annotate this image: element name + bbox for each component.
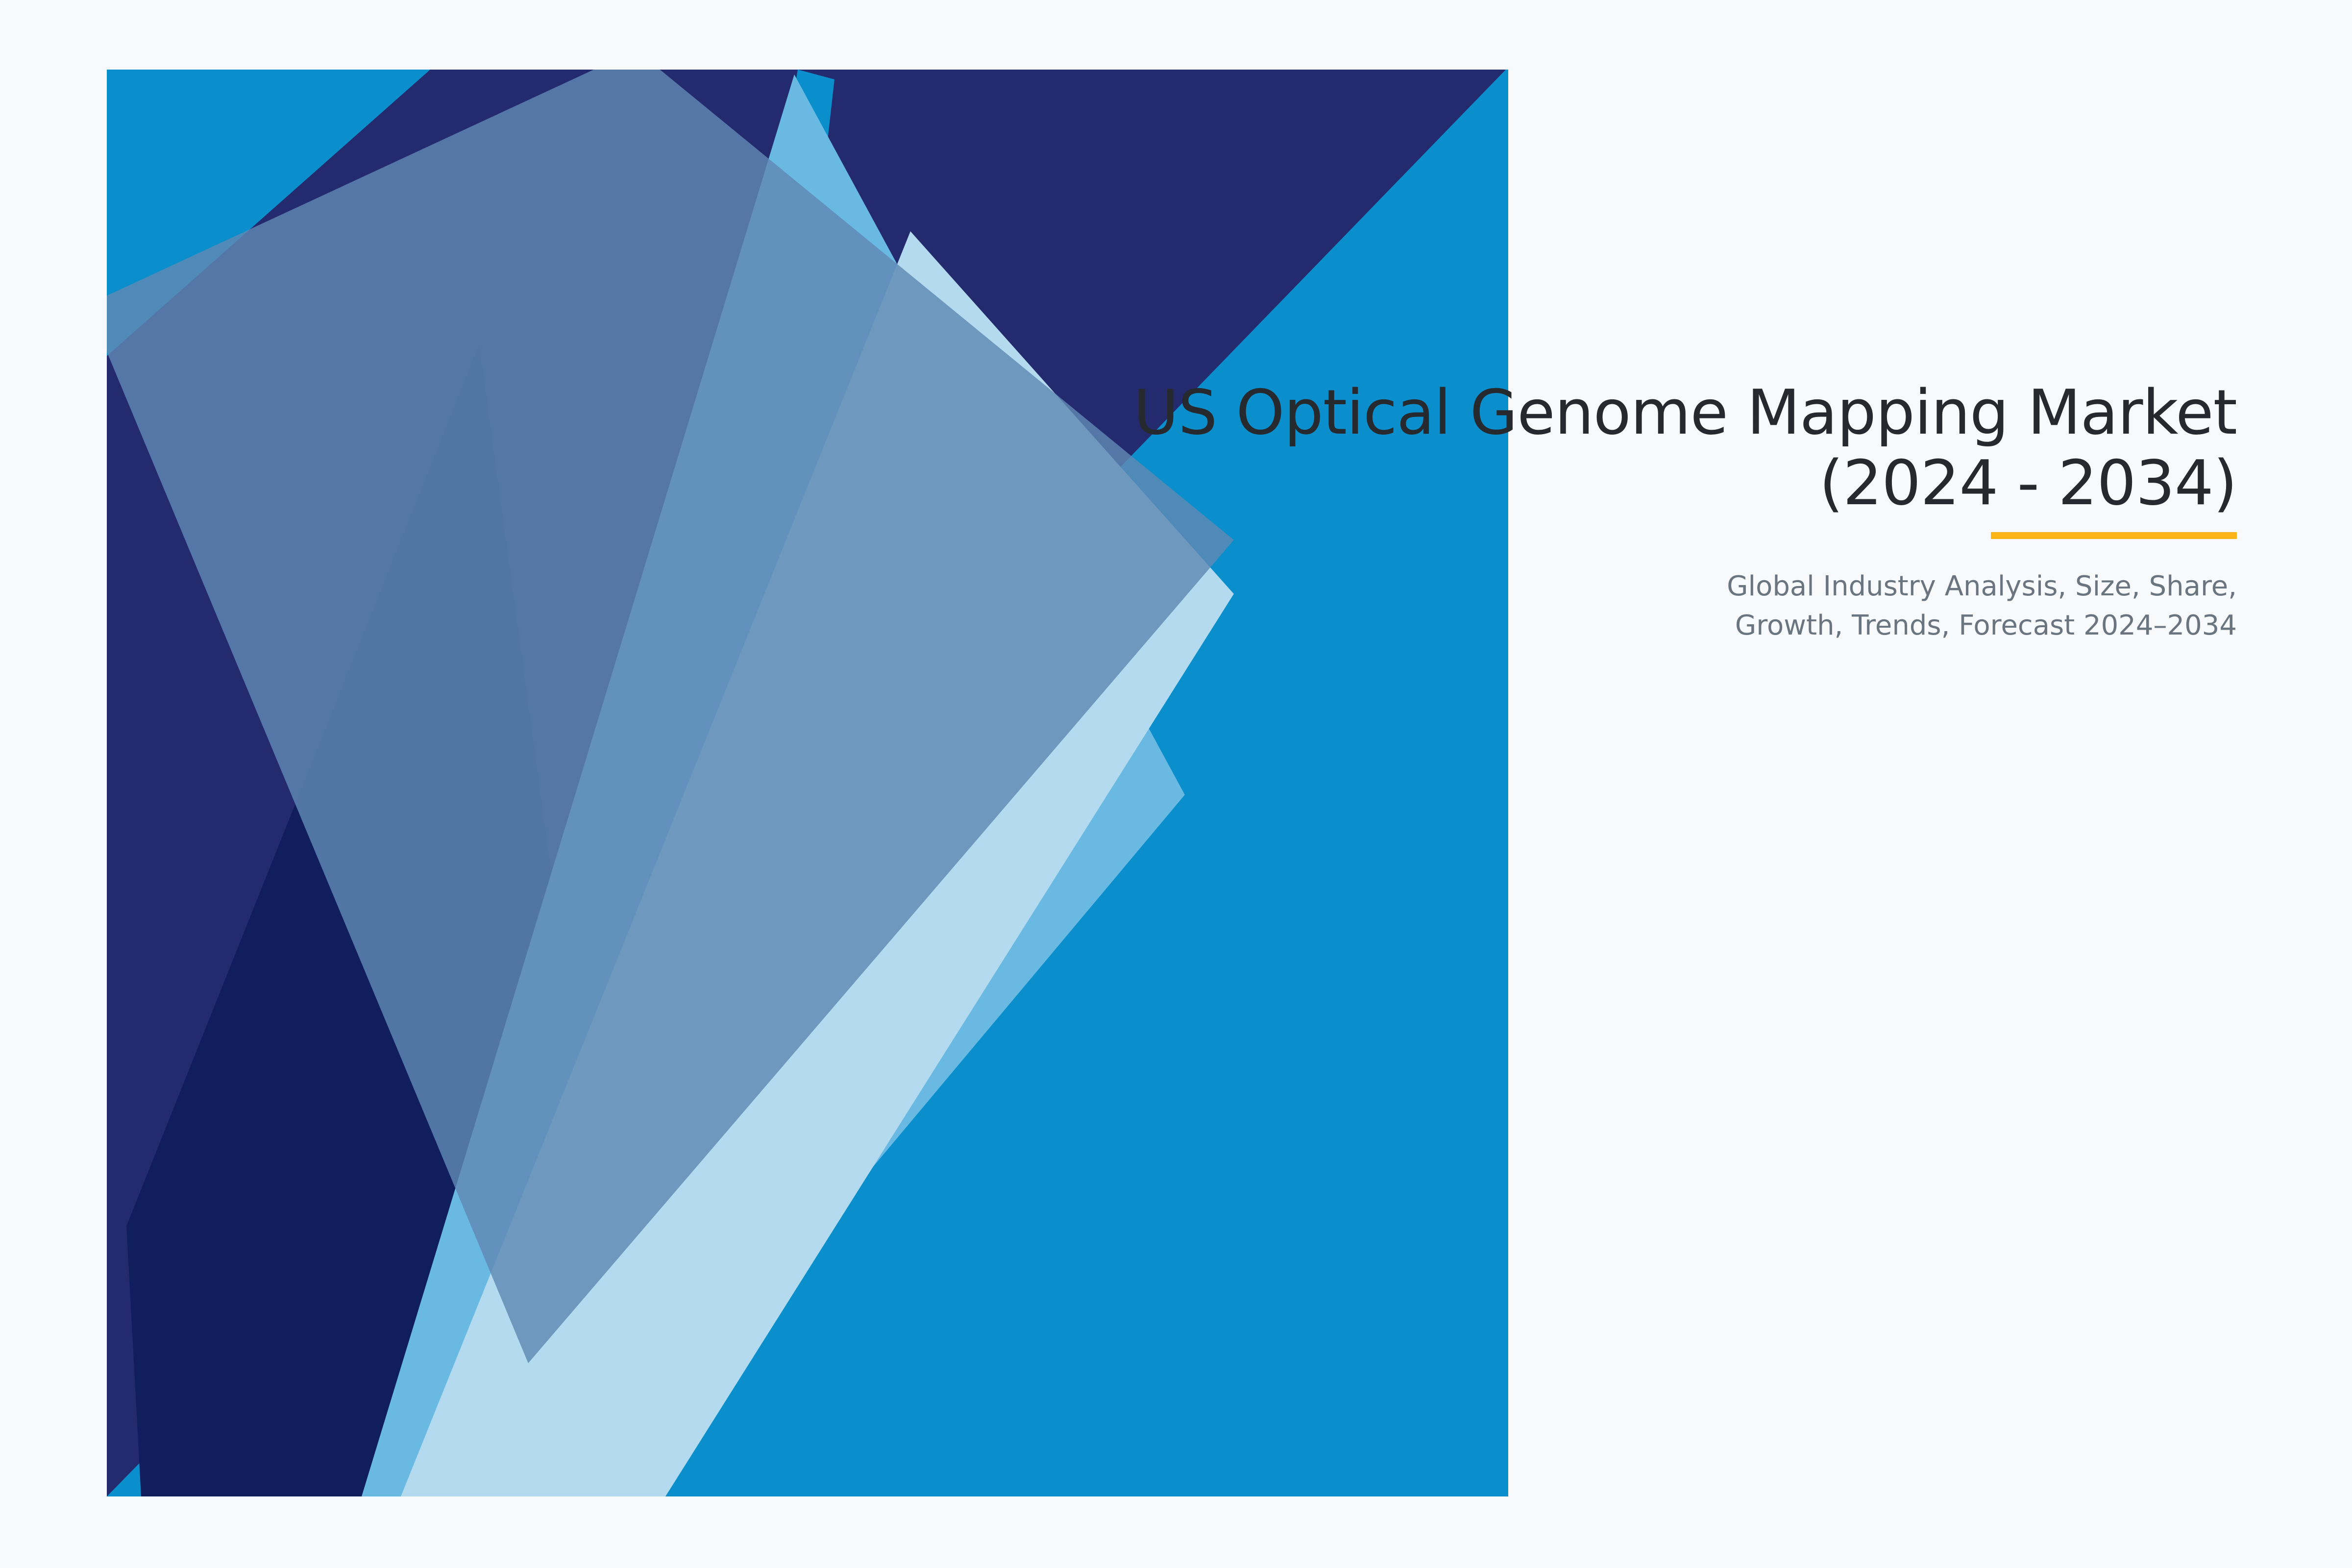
page-subtitle: Global Industry Analysis, Size, Share, G… (816, 567, 2237, 645)
cover-artwork (107, 70, 1508, 1496)
title-block: US Optical Genome Mapping Market (2024 -… (816, 377, 2237, 645)
page-title: US Optical Genome Mapping Market (2024 -… (816, 377, 2237, 518)
report-cover-page: US Optical Genome Mapping Market (2024 -… (0, 0, 2352, 1568)
title-underline-accent (1991, 532, 2237, 539)
abstract-geometric-shards-svg (107, 70, 1508, 1496)
